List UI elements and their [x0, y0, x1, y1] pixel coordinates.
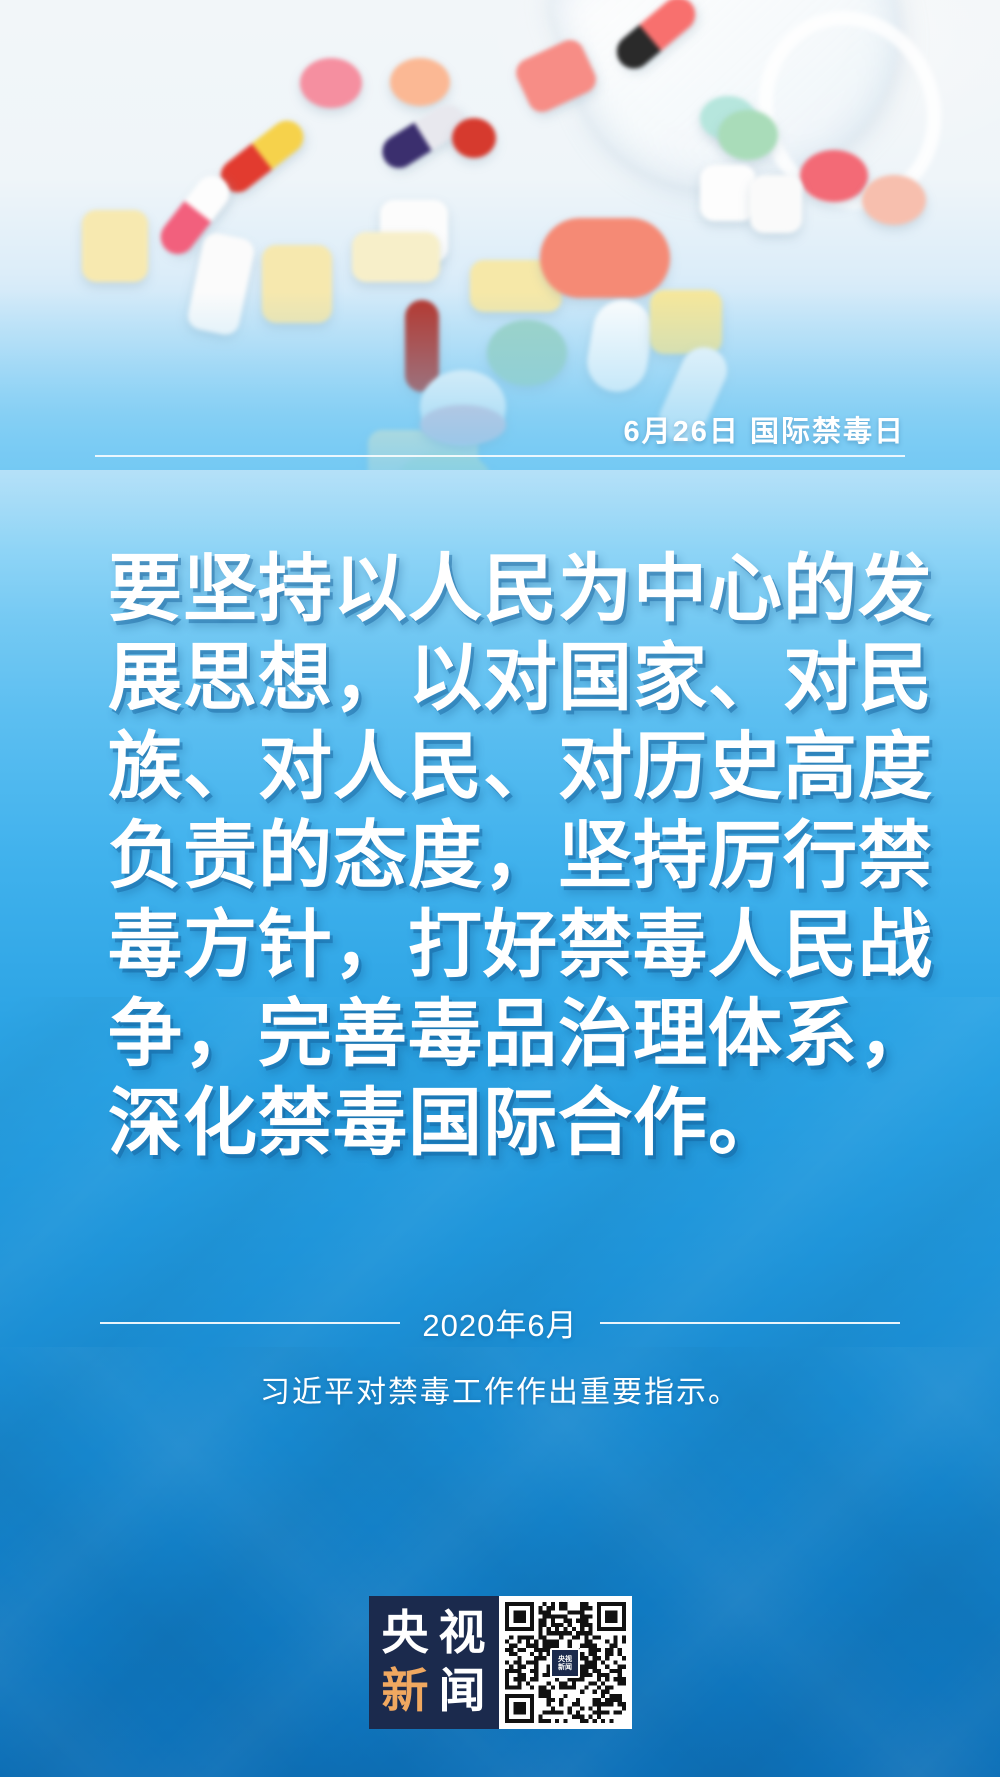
pill-blush-round [862, 175, 926, 225]
quote-line: 要坚持以人民为中心的发 [108, 545, 910, 634]
logo-char-yang: 央 [382, 1610, 429, 1657]
attribution-date: 2020年6月 [422, 1300, 577, 1345]
pill-green-round [718, 110, 778, 160]
pill-cream-block-a [82, 210, 148, 282]
quote-line: 深化禁毒国际合作。 [108, 1079, 910, 1168]
pill-rose-round [800, 150, 868, 202]
pill-yellow-cup [650, 290, 722, 354]
hero-photo [0, 0, 1000, 470]
quote-block: 要坚持以人民为中心的发 展思想，以对国家、对民 族、对人民、对历史高度 负责的态… [108, 545, 910, 1168]
quote-line: 族、对人民、对历史高度 [108, 723, 910, 812]
header-date-label: 6月26日 国际禁毒日 [624, 408, 905, 450]
pill-salmon-large [540, 218, 670, 298]
pill-white-oblong [185, 231, 256, 338]
quote-line: 负责的态度，坚持厉行禁 [108, 812, 910, 901]
qr-code[interactable]: 央视 新闻 [499, 1596, 632, 1729]
capsule-pink-white [154, 169, 236, 261]
pill-white-cyl-a [700, 165, 756, 221]
attribution-block: 2020年6月 习近平对禁毒工作作出重要指示。 [0, 1300, 1000, 1411]
quote-line: 展思想，以对国家、对民 [108, 634, 910, 723]
pill-jar-lip [731, 0, 969, 235]
pill-jar [544, 0, 935, 225]
attribution-rule-left [100, 1322, 400, 1324]
cctv-news-logo[interactable]: 央 视 新 闻 [369, 1596, 499, 1729]
capsule-red-dark [405, 300, 439, 392]
pill-white-oval-b [582, 295, 657, 396]
logo-char-xin: 新 [382, 1668, 429, 1715]
header-row: 6月26日 国际禁毒日 [95, 408, 905, 450]
pill-yellow-disc [470, 260, 562, 312]
capsule-pink-black [610, 0, 702, 76]
attribution-note: 习近平对禁毒工作作出重要指示。 [0, 1367, 1000, 1411]
capsule-navy [376, 99, 470, 175]
attribution-date-row: 2020年6月 [0, 1300, 1000, 1345]
logo-char-wen: 闻 [439, 1668, 486, 1715]
pill-white-cube [380, 200, 448, 262]
capsule-red-yellow [214, 114, 310, 199]
pill-cream-block-b [262, 245, 332, 323]
poster-root: 6月26日 国际禁毒日 要坚持以人民为中心的发 展思想，以对国家、对民 族、对人… [0, 0, 1000, 1777]
pill-pink-round [300, 58, 362, 108]
qr-center-logo: 央视 新闻 [550, 1648, 580, 1678]
header-divider [95, 455, 905, 457]
pill-white-cyl-b [750, 175, 802, 233]
pill-teal-round [487, 320, 567, 386]
pill-salmon-oval [512, 35, 601, 116]
attribution-rule-right [600, 1322, 900, 1324]
quote-line: 毒方针，打好禁毒人民战 [108, 901, 910, 990]
pill-red-round-a [452, 118, 496, 158]
pill-peach-round [390, 58, 450, 106]
brand-block: 央 视 新 闻 央视 新闻 [0, 1596, 1000, 1729]
logo-char-shi: 视 [439, 1610, 486, 1657]
pill-mint-round [700, 96, 756, 140]
qr-center-line1: 央视 [558, 1655, 572, 1663]
qr-center-line2: 新闻 [558, 1663, 572, 1671]
pill-cream-bar [352, 232, 440, 282]
quote-line: 争，完善毒品治理体系， [108, 990, 910, 1079]
